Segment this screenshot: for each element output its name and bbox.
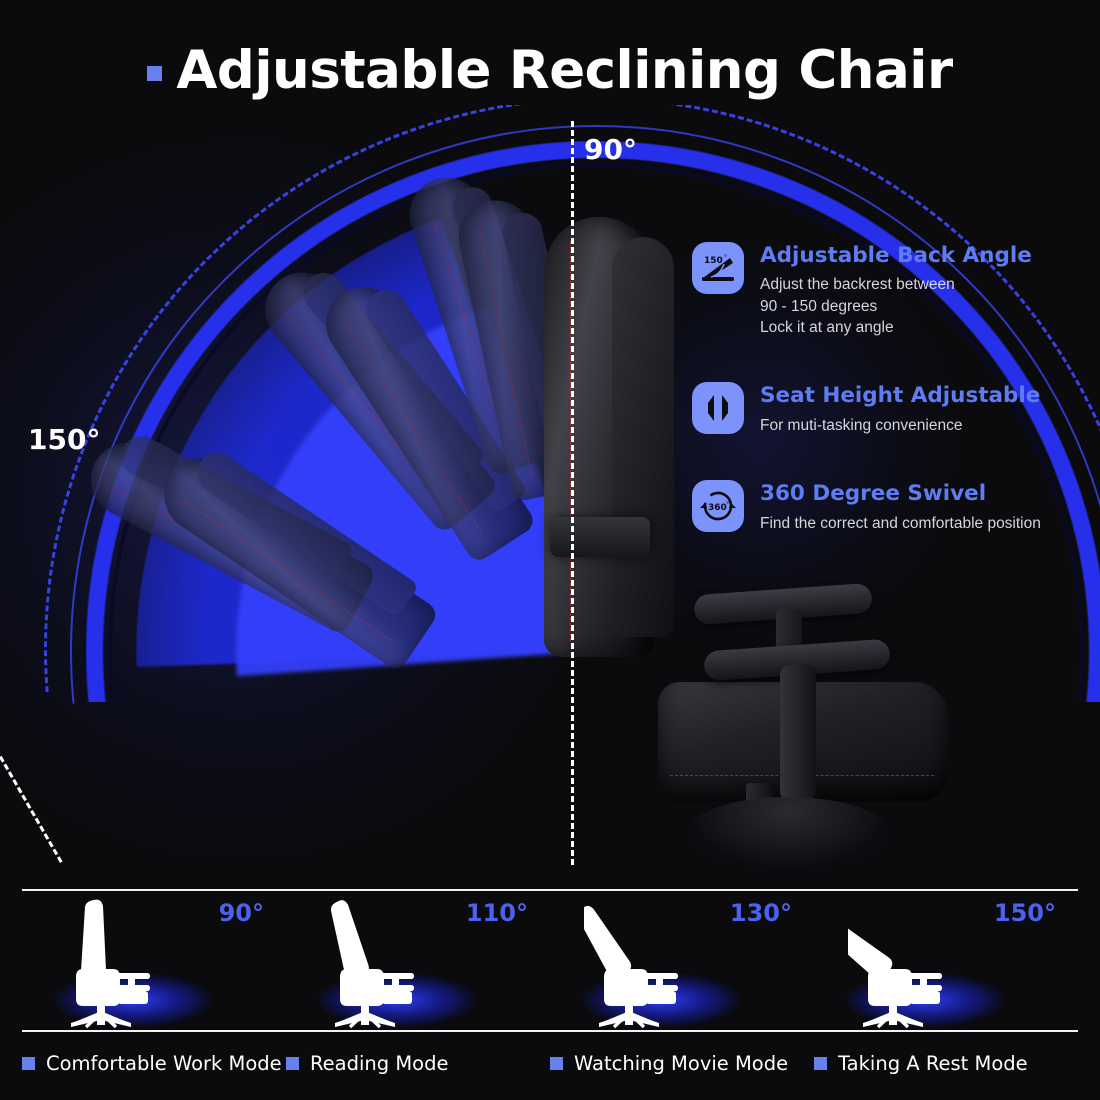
feature-desc-line: Lock it at any angle bbox=[760, 317, 1032, 338]
feature-item-swivel: 360 ° 360 Degree Swivel Find the correct… bbox=[692, 480, 1092, 534]
mode-label-item: Reading Mode bbox=[286, 1043, 550, 1083]
mode-angle-label: 150° bbox=[994, 899, 1056, 927]
feature-desc-line: Adjust the backrest between bbox=[760, 274, 1032, 295]
chair-silhouette bbox=[848, 897, 998, 1029]
divider-top bbox=[22, 889, 1078, 891]
hero-chair-base bbox=[688, 797, 888, 867]
feature-title: Seat Height Adjustable bbox=[760, 383, 1040, 408]
mode-label-row: Comfortable Work Mode Reading Mode Watch… bbox=[22, 1043, 1078, 1083]
angle-label-150: 150° bbox=[28, 423, 100, 456]
feature-item-back-angle: 150 ° Adjustable Back Angle Adjust the b… bbox=[692, 242, 1092, 338]
mode-label-item: Watching Movie Mode bbox=[550, 1043, 814, 1083]
svg-text:°: ° bbox=[724, 254, 727, 261]
mode-angle-label: 90° bbox=[219, 899, 264, 927]
svg-text:°: ° bbox=[726, 501, 729, 508]
feature-title: 360 Degree Swivel bbox=[760, 481, 1041, 506]
recline-angle-icon: 150 ° bbox=[692, 242, 744, 294]
feature-text-block: Seat Height Adjustable For muti-tasking … bbox=[760, 382, 1040, 436]
svg-text:360: 360 bbox=[708, 503, 727, 513]
mode-angle-label: 110° bbox=[466, 899, 528, 927]
hero-bolster bbox=[612, 237, 674, 637]
up-down-arrows-icon bbox=[692, 382, 744, 434]
mode-cell: 130° bbox=[550, 893, 814, 1029]
page-title: Adjustable Reclining Chair bbox=[176, 40, 952, 101]
guide-line-90-degrees bbox=[571, 121, 574, 865]
chair-silhouette bbox=[320, 897, 470, 1029]
mode-label: Comfortable Work Mode bbox=[46, 1052, 282, 1075]
mode-cell: 110° bbox=[286, 893, 550, 1029]
chair-silhouette bbox=[56, 897, 206, 1029]
feature-desc-line: 90 - 150 degrees bbox=[760, 296, 1032, 317]
mode-label-item: Comfortable Work Mode bbox=[22, 1043, 286, 1083]
mode-label: Reading Mode bbox=[310, 1052, 448, 1075]
feature-title: Adjustable Back Angle bbox=[760, 243, 1032, 268]
mode-cell: 150° bbox=[814, 893, 1078, 1029]
mode-cell: 90° bbox=[22, 893, 286, 1029]
hero-armrest-post-lower bbox=[780, 665, 816, 801]
mode-bullet-icon bbox=[22, 1057, 35, 1070]
angle-label-90: 90° bbox=[584, 133, 637, 166]
feature-desc-line: For muti-tasking convenience bbox=[760, 415, 1040, 436]
chair-silhouette bbox=[584, 897, 734, 1029]
mode-label: Taking A Rest Mode bbox=[838, 1052, 1028, 1075]
mode-bullet-icon bbox=[814, 1057, 827, 1070]
feature-list: 150 ° Adjustable Back Angle Adjust the b… bbox=[692, 242, 1092, 568]
page-header: Adjustable Reclining Chair bbox=[0, 40, 1100, 101]
divider-bottom bbox=[22, 1030, 1078, 1032]
swivel-360-icon: 360 ° bbox=[692, 480, 744, 532]
title-bullet-icon bbox=[147, 66, 162, 81]
feature-text-block: 360 Degree Swivel Find the correct and c… bbox=[760, 480, 1041, 534]
mode-angle-label: 130° bbox=[730, 899, 792, 927]
mode-silhouette-row: 90° 110° bbox=[22, 893, 1078, 1029]
feature-item-seat-height: Seat Height Adjustable For muti-tasking … bbox=[692, 382, 1092, 436]
feature-desc-line: Find the correct and comfortable positio… bbox=[760, 513, 1041, 534]
mode-label-item: Taking A Rest Mode bbox=[814, 1043, 1078, 1083]
mode-bullet-icon bbox=[550, 1057, 563, 1070]
mode-bullet-icon bbox=[286, 1057, 299, 1070]
mode-label: Watching Movie Mode bbox=[574, 1052, 788, 1075]
hero-lumbar-support bbox=[550, 517, 650, 557]
feature-text-block: Adjustable Back Angle Adjust the backres… bbox=[760, 242, 1032, 338]
svg-text:150: 150 bbox=[704, 256, 723, 266]
